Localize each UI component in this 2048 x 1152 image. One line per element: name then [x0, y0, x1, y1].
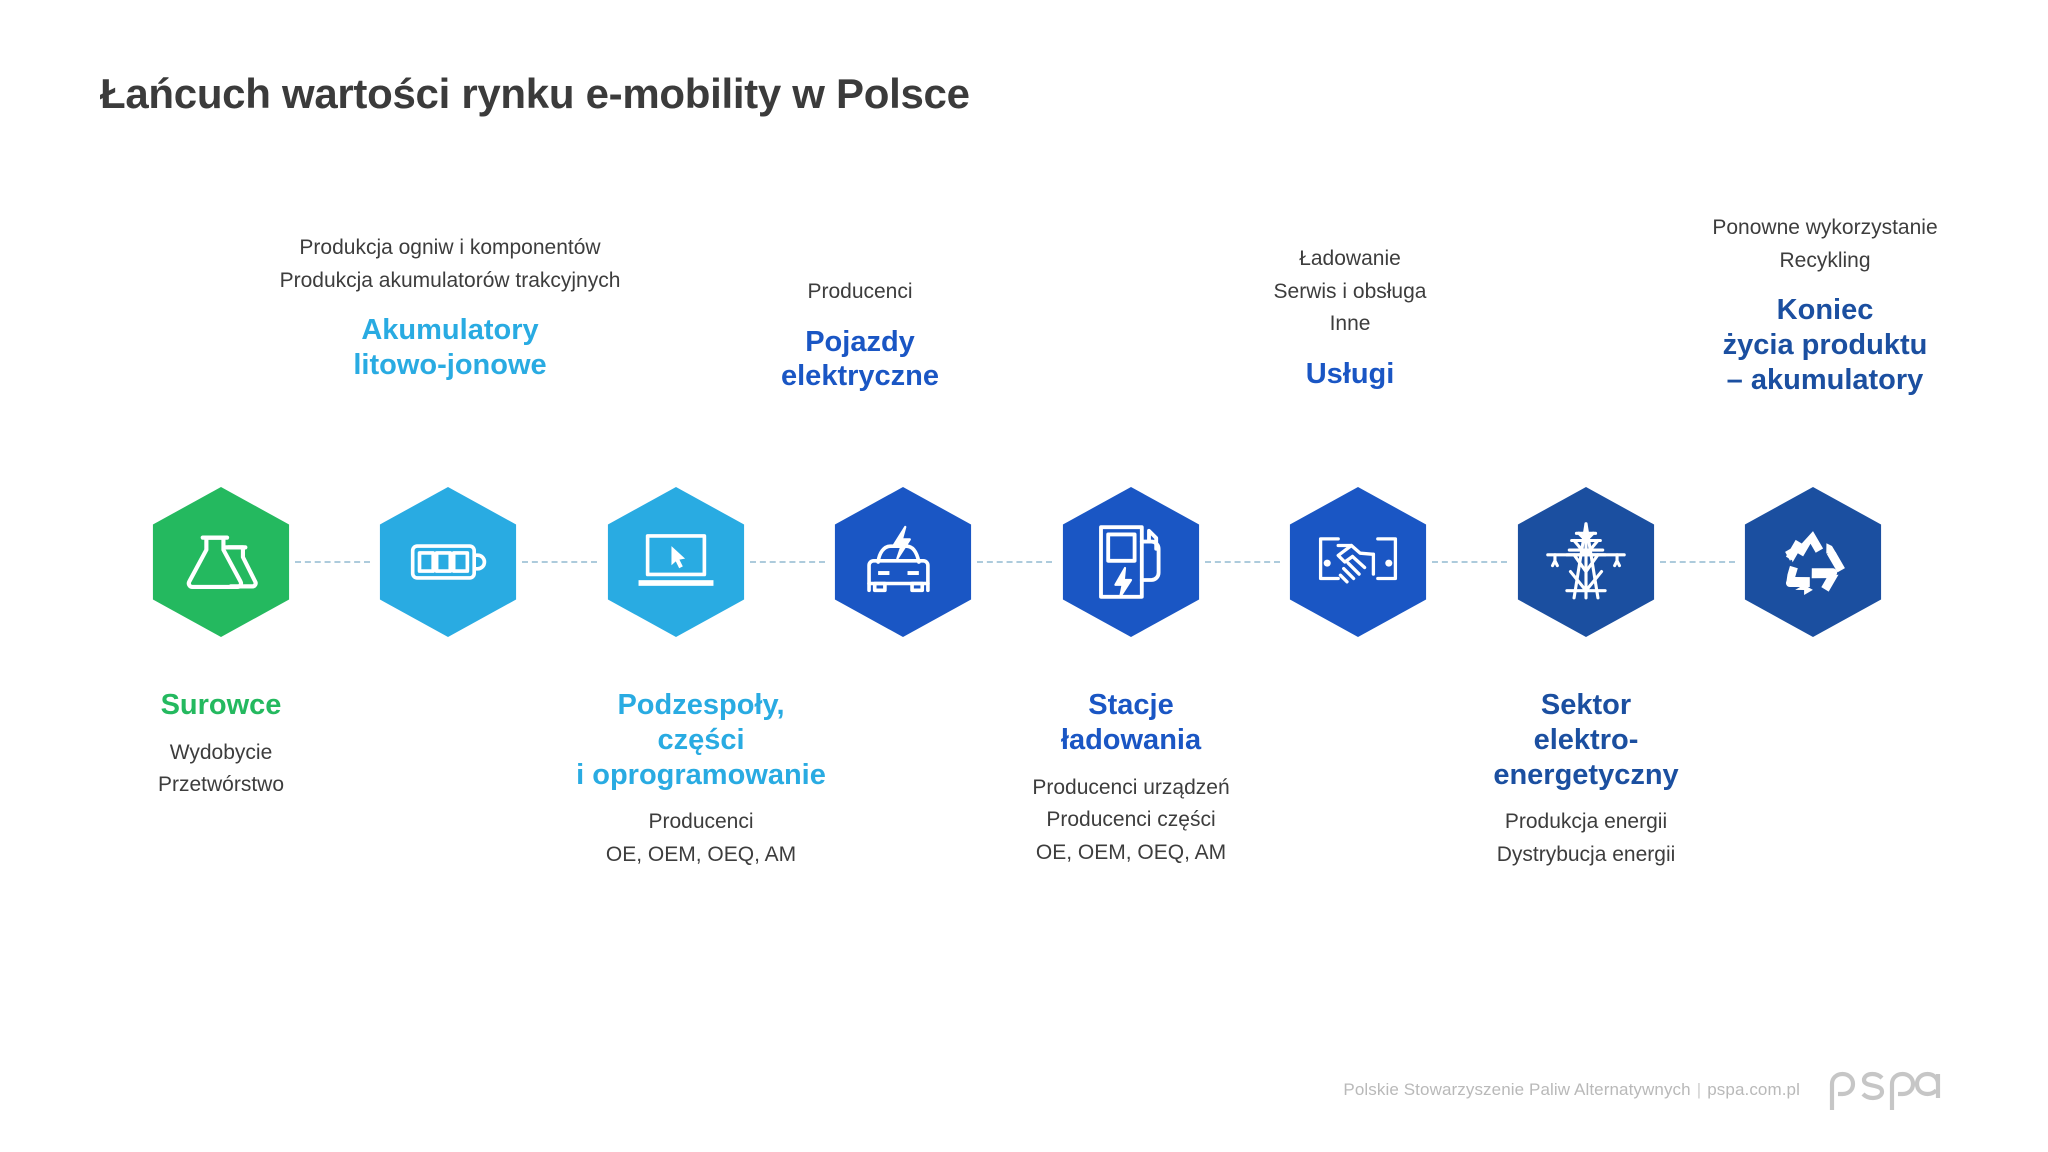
- electric-car-icon: [860, 522, 946, 602]
- stage-heading: Stacje: [961, 688, 1301, 723]
- value-chain-row: [0, 487, 2048, 637]
- stage-sub-line: OE, OEM, OEQ, AM: [961, 837, 1301, 870]
- stage-sub-line: Serwis i obsługa: [1200, 276, 1500, 309]
- stage-sub-line: Wydobycie: [81, 737, 361, 770]
- pspa-logo[interactable]: [1826, 1068, 1944, 1112]
- stage-icon-surowce[interactable]: [147, 487, 295, 637]
- stage-label-uslugi: Ładowanie Serwis i obsługa Inne Usługi: [1200, 243, 1500, 391]
- stage-icon-uslugi[interactable]: [1284, 487, 1432, 637]
- stage-label-podzespoly: Podzespoły, części i oprogramowanie Prod…: [511, 688, 891, 871]
- chain-connector: [295, 561, 370, 563]
- stage-label-akumulatory: Produkcja ogniw i komponentów Produkcja …: [245, 232, 655, 383]
- stage-icon-akumulatory[interactable]: [374, 487, 522, 637]
- stage-sub-line: Producenci: [511, 806, 891, 839]
- stage-heading: Pojazdy: [720, 325, 1000, 360]
- chain-connector: [1432, 561, 1507, 563]
- chain-connector: [522, 561, 597, 563]
- stage-heading: energetyczny: [1416, 758, 1756, 793]
- page-title: Łańcuch wartości rynku e-mobility w Pols…: [100, 70, 970, 118]
- stage-heading: Koniec: [1625, 293, 2025, 328]
- stage-label-stacje: Stacje ładowania Producenci urządzeń Pro…: [961, 688, 1301, 869]
- power-pylon-icon: [1543, 519, 1629, 605]
- stage-sub-line: Ponowne wykorzystanie: [1625, 212, 2025, 245]
- stage-heading: części: [511, 723, 891, 758]
- footer-credit: Polskie Stowarzyszenie Paliw Alternatywn…: [1343, 1080, 1800, 1100]
- stage-heading: elektro-: [1416, 723, 1756, 758]
- stage-heading: Akumulatory: [245, 313, 655, 348]
- stage-icon-podzespoly[interactable]: [602, 487, 750, 637]
- stage-icon-stacje[interactable]: [1057, 487, 1205, 637]
- stage-heading: Usługi: [1200, 357, 1500, 392]
- footer-website[interactable]: pspa.com.pl: [1707, 1080, 1800, 1099]
- stage-heading: elektryczne: [720, 359, 1000, 394]
- stage-heading: życia produktu: [1625, 328, 2025, 363]
- stage-label-surowce: Surowce Wydobycie Przetwórstwo: [81, 688, 361, 802]
- stage-sub-line: Dystrybucja energii: [1416, 839, 1756, 872]
- stage-icon-sektor[interactable]: [1512, 487, 1660, 637]
- stage-heading: Surowce: [81, 688, 361, 723]
- stage-sub-line: Produkcja ogniw i komponentów: [245, 232, 655, 265]
- stage-sub-line: Przetwórstwo: [81, 769, 361, 802]
- stage-sub-line: Produkcja energii: [1416, 806, 1756, 839]
- handshake-icon: [1314, 526, 1402, 598]
- charging-station-icon: [1090, 520, 1172, 604]
- stage-sub-line: Producenci części: [961, 804, 1301, 837]
- chain-connector: [1205, 561, 1280, 563]
- stage-heading: – akumulatory: [1625, 363, 2025, 398]
- stage-sub-line: Inne: [1200, 308, 1500, 341]
- stage-sub-line: Producenci urządzeń: [961, 772, 1301, 805]
- footer-organization: Polskie Stowarzyszenie Paliw Alternatywn…: [1343, 1080, 1690, 1099]
- stage-heading: Podzespoły,: [511, 688, 891, 723]
- stage-sub-line: OE, OEM, OEQ, AM: [511, 839, 891, 872]
- stage-sub-line: Recykling: [1625, 245, 2025, 278]
- stage-sub-line: Produkcja akumulatorów trakcyjnych: [245, 265, 655, 298]
- stage-heading: ładowania: [961, 723, 1301, 758]
- recycling-icon: [1775, 524, 1851, 600]
- stage-label-sektor: Sektor elektro- energetyczny Produkcja e…: [1416, 688, 1756, 871]
- chain-connector: [750, 561, 825, 563]
- laptop-cursor-icon: [634, 524, 718, 600]
- footer: Polskie Stowarzyszenie Paliw Alternatywn…: [1343, 1068, 1944, 1112]
- stage-icon-pojazdy[interactable]: [829, 487, 977, 637]
- stage-heading: Sektor: [1416, 688, 1756, 723]
- footer-separator: |: [1697, 1080, 1702, 1099]
- stage-label-koniec-zycia: Ponowne wykorzystanie Recykling Koniec ż…: [1625, 212, 2025, 397]
- stage-sub-line: Ładowanie: [1200, 243, 1500, 276]
- chain-connector: [1660, 561, 1735, 563]
- chain-connector: [977, 561, 1052, 563]
- stage-sub-line: Producenci: [720, 276, 1000, 309]
- stage-icon-koniec-zycia[interactable]: [1739, 487, 1887, 637]
- stage-label-pojazdy: Producenci Pojazdy elektryczne: [720, 276, 1000, 394]
- stage-heading: litowo-jonowe: [245, 348, 655, 383]
- flasks-icon: [182, 523, 260, 601]
- battery-icon: [407, 521, 489, 603]
- stage-heading: i oprogramowanie: [511, 758, 891, 793]
